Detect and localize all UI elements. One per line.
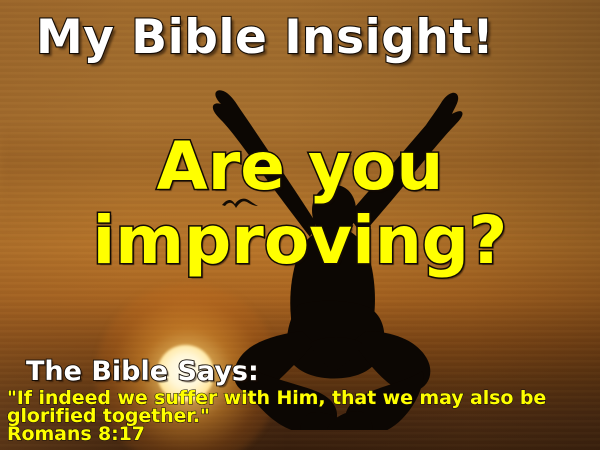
verse-reference: Romans 8:17: [7, 423, 145, 445]
bible-says-label: The Bible Says:: [26, 356, 259, 387]
bible-insight-slide: My Bible Insight! Are you improving? The…: [0, 0, 600, 450]
headline-line-1: Are you: [0, 128, 600, 205]
headline-line-2: improving?: [0, 202, 600, 279]
page-title: My Bible Insight!: [36, 10, 494, 65]
